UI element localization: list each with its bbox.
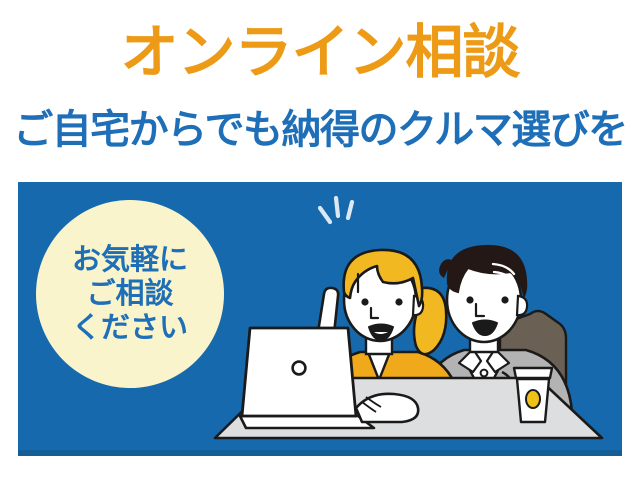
badge-line-2: ご相談 bbox=[86, 277, 173, 311]
page-title: オンライン相談 bbox=[0, 22, 640, 84]
consultation-badge: お気軽に ご相談 ください bbox=[36, 200, 224, 388]
page-subtitle: ご自宅からでも納得のクルマ選びを bbox=[0, 106, 640, 154]
illustration-panel: お気軽に ご相談 ください bbox=[18, 182, 622, 456]
coffee-cup-icon bbox=[514, 368, 552, 422]
online-consultation-banner: オンライン相談 ご自宅からでも納得のクルマ選びを bbox=[0, 0, 640, 480]
sparkle-icon bbox=[320, 198, 352, 222]
laptop-logo-icon bbox=[293, 362, 306, 375]
badge-line-3: ください bbox=[72, 311, 188, 345]
laptop-icon bbox=[240, 328, 374, 428]
badge-line-1: お気軽に bbox=[72, 243, 188, 277]
